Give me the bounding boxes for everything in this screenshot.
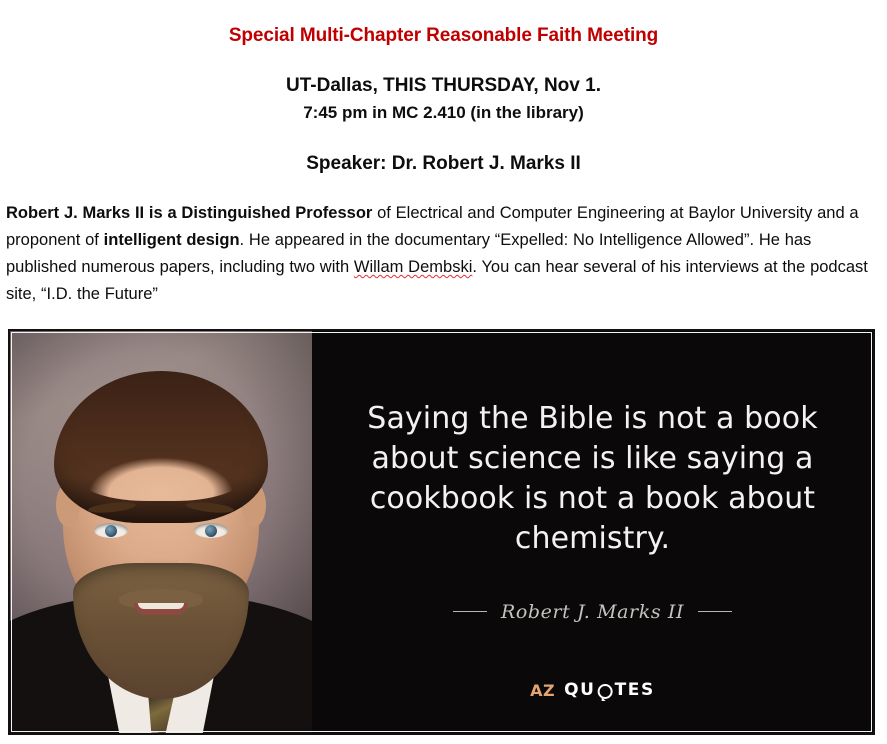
azquotes-quotes-right: TES	[615, 680, 655, 700]
attribution-rule-left	[453, 611, 487, 612]
quote-text: Saying the Bible is not a book about sci…	[343, 399, 843, 559]
flyer-time-line: 7:45 pm in MC 2.410 (in the library)	[0, 97, 887, 123]
speaker-bio-paragraph: Robert J. Marks II is a Distinguished Pr…	[6, 200, 883, 307]
flyer-document: Special Multi-Chapter Reasonable Faith M…	[0, 0, 887, 744]
portrait-mouth	[134, 603, 188, 615]
speaker-portrait-photo	[10, 331, 312, 733]
flyer-headline: Special Multi-Chapter Reasonable Faith M…	[0, 0, 887, 47]
azquotes-quotes-left: QU	[564, 680, 595, 700]
portrait-eye-right	[194, 523, 228, 538]
azquotes-quotes-text: QU TES	[564, 680, 655, 700]
quote-image-card[interactable]: Saying the Bible is not a book about sci…	[8, 329, 875, 735]
bio-bold-intelligent-design: intelligent design	[104, 231, 240, 249]
azquotes-watermark[interactable]: AZ QU TES	[530, 680, 655, 700]
attribution-rule-right	[698, 611, 732, 612]
portrait-eye-left	[94, 523, 128, 538]
flyer-location-line: UT-Dallas, THIS THURSDAY, Nov 1.	[0, 47, 887, 97]
attribution-name: Robert J. Marks II	[501, 601, 684, 623]
flyer-speaker-line: Speaker: Dr. Robert J. Marks II	[0, 122, 887, 175]
speech-bubble-icon	[598, 684, 613, 699]
quote-attribution: Robert J. Marks II	[453, 601, 732, 623]
quote-text-panel: Saying the Bible is not a book about sci…	[312, 331, 873, 733]
bio-bold-lead: Robert J. Marks II is a Distinguished Pr…	[6, 204, 372, 222]
azquotes-az-text: AZ	[530, 681, 555, 700]
spellcheck-misspelled-word[interactable]: Willam Dembski	[354, 258, 472, 276]
